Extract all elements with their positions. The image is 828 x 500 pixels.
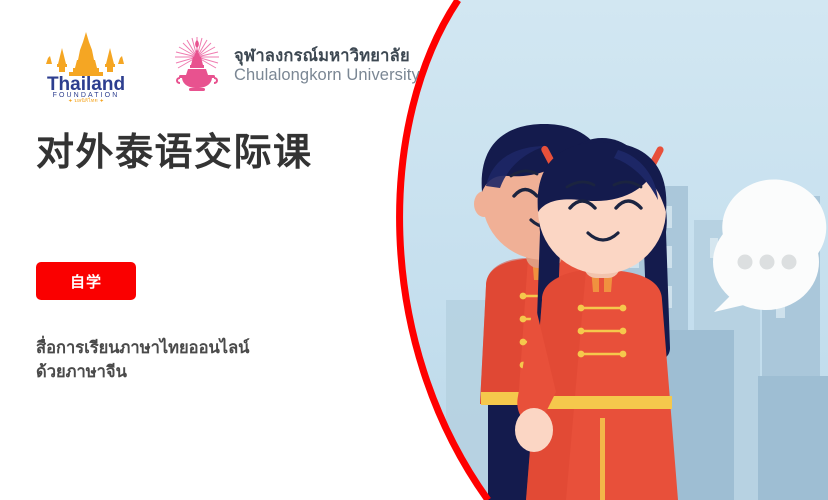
chulalongkorn-name-thai: จุฬาลงกรณ์มหาวิทยาลัย <box>234 47 420 66</box>
chulalongkorn-phra-kiao-emblem <box>174 35 220 97</box>
course-subtitle-line-2: ด้วยภาษาจีน <box>36 361 316 385</box>
foundation-thai-wordmark: ✦ มูลนิธิไทย ✦ <box>68 98 104 103</box>
illustration-panel <box>428 0 828 500</box>
thailand-foundation-logo: Thailand FOUNDATION ✦ มูลนิธิไทย ✦ <box>36 30 136 102</box>
course-subtitle: สื่อการเรียนภาษาไทยออนไลน์ ด้วยภาษาจีน <box>36 337 316 385</box>
temple-icon <box>46 32 124 76</box>
typing-dot <box>782 255 797 270</box>
typing-dot <box>738 255 753 270</box>
self-study-badge[interactable]: 自学 <box>36 262 136 300</box>
emblem-tray <box>177 75 217 91</box>
girl-hand <box>515 408 553 452</box>
course-subtitle-line-1: สื่อการเรียนภาษาไทยออนไลน์ <box>36 337 316 361</box>
girl-student <box>515 138 678 500</box>
course-title: 对外泰语交际课 <box>36 131 313 176</box>
chulalongkorn-branding: จุฬาลงกรณ์มหาวิทยาลัย Chulalongkorn Univ… <box>174 35 420 97</box>
chulalongkorn-name-block: จุฬาลงกรณ์มหาวิทยาลัย Chulalongkorn Univ… <box>234 47 420 86</box>
content-column: Thailand FOUNDATION ✦ มูลนิธิไทย ✦ <box>0 0 440 500</box>
typing-dot <box>760 255 775 270</box>
logo-row: Thailand FOUNDATION ✦ มูลนิธิไทย ✦ <box>36 30 420 102</box>
course-banner-card: Thailand FOUNDATION ✦ มูลนิธิไทย ✦ <box>0 0 828 500</box>
chulalongkorn-name-english: Chulalongkorn University <box>234 66 420 85</box>
